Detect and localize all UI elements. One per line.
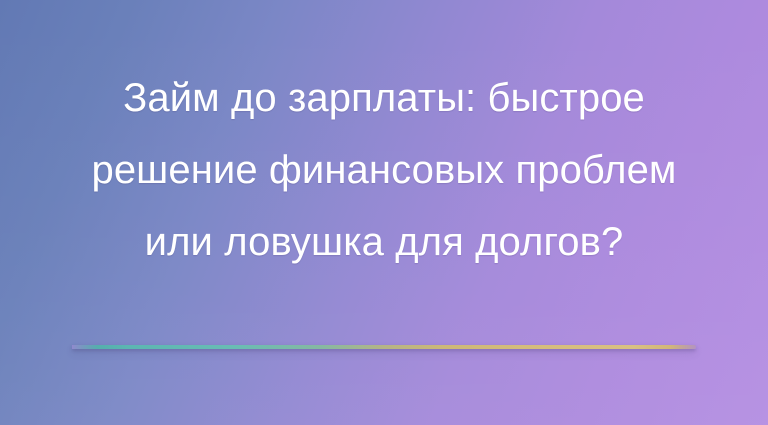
- article-title-banner: Займ до зарплаты: быстрое решение финанс…: [0, 0, 768, 425]
- page-title: Займ до зарплаты: быстрое решение финанс…: [64, 62, 704, 278]
- gradient-divider: [72, 345, 696, 349]
- title-divider-container: [0, 345, 768, 363]
